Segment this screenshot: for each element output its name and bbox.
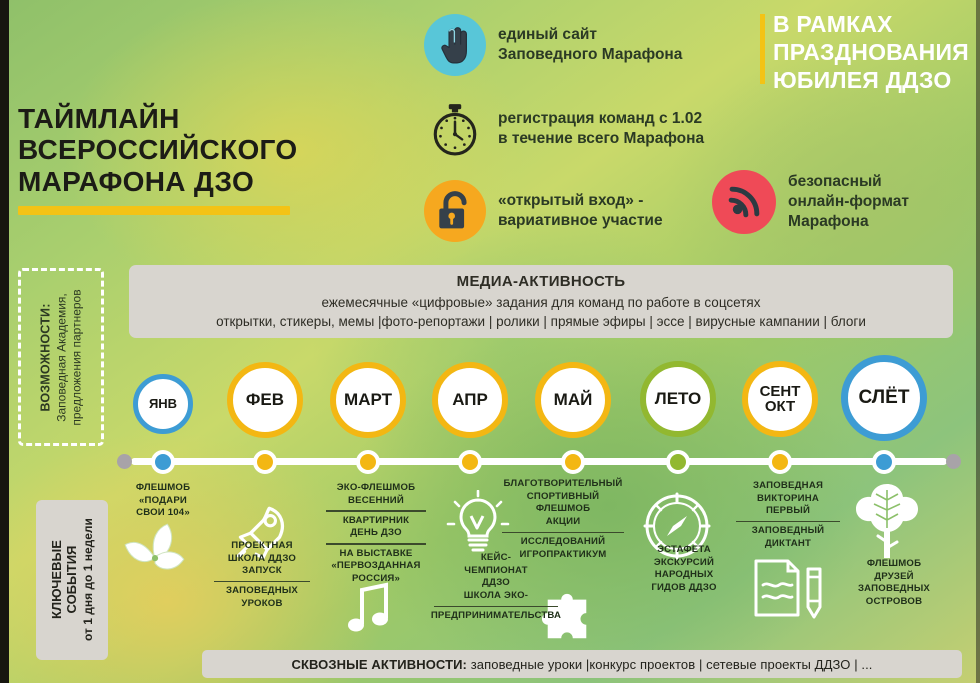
anniversary-banner: В РАМКАХ ПРАЗДНОВАНИЯ ЮБИЛЕЯ ДДЗО <box>760 10 972 94</box>
event-line: ФЛЕШМОБ <box>110 482 216 495</box>
timeline-month-label: МАРТ <box>344 391 392 408</box>
event-line: ЗАПОВЕДНЫЙ <box>728 525 848 538</box>
bottom-text: СКВОЗНЫЕ АКТИВНОСТИ: заповедные уроки |к… <box>291 657 872 672</box>
feature-registration: регистрация команд с 1.02 в течение всег… <box>424 98 704 160</box>
timeline-dot[interactable] <box>253 450 277 474</box>
title-line-2: ВСЕРОССИЙСКОГО <box>18 134 348 165</box>
event-line: ФЛЕШМОБ <box>836 558 952 571</box>
timeline-month-label: ФЕВ <box>246 391 284 408</box>
timeline-month-label: ЛЕТО <box>655 390 701 407</box>
ragged-edge <box>350 0 390 92</box>
stopwatch-icon <box>424 98 486 160</box>
event-line: НА ВЫСТАВКЕ <box>318 548 434 561</box>
feature-text: регистрация команд с 1.02 в течение всег… <box>498 109 704 149</box>
timeline-dot[interactable] <box>458 450 482 474</box>
banner-line-1: В РАМКАХ <box>773 10 972 38</box>
timeline-month-фев[interactable]: ФЕВ <box>227 362 303 438</box>
media-subheading: ежемесячные «цифровые» задания для коман… <box>139 295 943 310</box>
event-line: РОССИЯ» <box>318 573 434 586</box>
logo-zapovednoe-posolstvo: ЗАПОВЕДНОЕ ПОСОЛЬСТВО БЛАГОТВОРИТЕЛЬНЫЙ … <box>230 5 340 87</box>
key-events-side-label: КЛЮЧЕВЫЕ СОБЫТИЯ от 1 дня до 1 недели <box>36 500 108 660</box>
bottom-rest: заповедные уроки |конкурс проектов | сет… <box>467 657 873 672</box>
timeline-event-block: БЛАГОТВОРИТЕЛЬНЫЙСПОРТИВНЫЙФЛЕШМОБАКЦИИИ… <box>492 478 634 561</box>
event-line: «ПЕРВОЗДАННАЯ <box>318 560 434 573</box>
banner-line-2: ПРАЗДНОВАНИЯ <box>773 38 972 66</box>
cross-cutting-activities-banner: СКВОЗНЫЕ АКТИВНОСТИ: заповедные уроки |к… <box>202 650 962 678</box>
event-line: ВИКТОРИНА <box>728 493 848 506</box>
title-line-3: МАРАФОНА ДЗО <box>18 166 348 197</box>
key-events-line-3: от 1 дня до 1 недели <box>81 519 95 642</box>
event-line: ИГРОПРАКТИКУМ <box>492 549 634 562</box>
event-divider <box>434 606 558 608</box>
timeline-dot[interactable] <box>666 450 690 474</box>
timeline-month-label: МАЙ <box>554 391 593 408</box>
document-pencil-icon <box>748 555 826 626</box>
feature-line-1: «открытый вход» - <box>498 191 663 211</box>
timeline-event-block: ЭСТАФЕТАЭКСКУРСИЙНАРОДНЫХГИДОВ ДДЗО <box>630 544 738 595</box>
feature-line-1: единый сайт <box>498 25 682 45</box>
event-line: СВОИ 104» <box>110 507 216 520</box>
posolstvo-mark-icon <box>259 5 311 43</box>
event-line: ПРЕДПРИНИМАТЕЛЬСТВА <box>424 610 568 623</box>
banner-line-3: ЮБИЛЕЯ ДДЗО <box>773 66 972 94</box>
event-line: ШКОЛА ДДЗО <box>206 553 318 566</box>
feature-online-format: безопасный онлайн-формат Марафона <box>712 170 909 234</box>
bear-circle-icon <box>115 6 207 52</box>
timeline-event-block: ЭКО-ФЛЕШМОБВЕСЕННИЙКВАРТИРНИКДЕНЬ ДЗОНА … <box>318 482 434 586</box>
logo-bar: ДВИЖЕНИЕ · ДРУЗЕЙ · ЗАПОВЕДНЫХ · ОСТРОВО… <box>6 0 376 92</box>
feature-line-1: регистрация команд с 1.02 <box>498 109 704 129</box>
event-line: ИССЛЕДОВАНИЙ <box>492 536 634 549</box>
event-line: ДЕНЬ ДЗО <box>318 527 434 540</box>
event-line: АКЦИИ <box>492 516 634 529</box>
timeline-endcap-right-icon <box>946 454 961 469</box>
pinwheel-icon: ДВИЖЕНИЕ · ДРУЗЕЙ · ЗАПОВЕДНЫХ · ОСТРОВО… <box>14 7 92 85</box>
timeline-event-block: КЕЙС-ЧЕМПИОНАТДДЗОШКОЛА ЭКО-ПРЕДПРИНИМАТ… <box>424 552 568 623</box>
timeline-event-block: ФЛЕШМОБДРУЗЕЙЗАПОВЕДНЫХОСТРОВОВ <box>836 558 952 609</box>
timeline-month-label: АПР <box>452 391 488 408</box>
timeline-dot[interactable] <box>872 450 896 474</box>
open-lock-icon <box>424 180 486 242</box>
event-line: ЭСТАФЕТА <box>630 544 738 557</box>
event-line: ЗАПОВЕДНАЯ <box>728 480 848 493</box>
logo-posolstvo-word1: ЗАПОВЕДНОЕ <box>230 45 340 58</box>
feature-line-2: вариативное участие <box>498 211 663 231</box>
feature-line-3: Марафона <box>788 212 909 232</box>
timeline-dot[interactable] <box>151 450 175 474</box>
event-line: ЗАПУСК <box>206 565 318 578</box>
opportunities-line-2: Заповедная Академия, <box>55 289 69 425</box>
timeline-month-март[interactable]: МАРТ <box>330 362 406 438</box>
feature-line-2: онлайн-формат <box>788 192 909 212</box>
timeline-event-block: ЗАПОВЕДНАЯВИКТОРИНАПЕРВЫЙЗАПОВЕДНЫЙДИКТА… <box>728 480 848 551</box>
leaf-icon <box>118 520 190 591</box>
logo-dvizhenie-druzey-zapovednyh-ostrovov: ДВИЖЕНИЕ · ДРУЗЕЙ · ЗАПОВЕДНЫХ · ОСТРОВО… <box>14 7 92 85</box>
timeline-month-май[interactable]: МАЙ <box>535 362 611 438</box>
event-line: «ПОДАРИ <box>110 495 216 508</box>
event-line: ПРОЕКТНАЯ <box>206 540 318 553</box>
event-line: ЗАПОВЕДНЫХ <box>206 585 318 598</box>
event-line: ГИДОВ ДДЗО <box>630 582 738 595</box>
timeline-event-block: ФЛЕШМОБ«ПОДАРИСВОИ 104» <box>110 482 216 520</box>
key-events-line-2: СОБЫТИЯ <box>64 519 79 642</box>
event-line: ШКОЛА ЭКО- <box>424 590 568 603</box>
timeline-endcap-left-icon <box>117 454 132 469</box>
title-line-1: ТАЙМЛАЙН <box>18 103 348 134</box>
timeline-month-label: СЛЁТ <box>859 388 910 407</box>
timeline-dot[interactable] <box>561 450 585 474</box>
timeline-month-label: СЕНТОКТ <box>760 384 801 415</box>
music-note-icon <box>344 580 394 643</box>
feature-text: безопасный онлайн-формат Марафона <box>788 172 909 232</box>
timeline-dot[interactable] <box>356 450 380 474</box>
event-divider <box>502 532 624 534</box>
timeline-month-апр[interactable]: АПР <box>432 362 508 438</box>
bottom-bold: СКВОЗНЫЕ АКТИВНОСТИ: <box>291 657 467 672</box>
event-line: УРОКОВ <box>206 598 318 611</box>
event-line: СПОРТИВНЫЙ <box>492 491 634 504</box>
event-divider <box>326 543 426 545</box>
hand-pointer-icon <box>424 14 486 76</box>
event-line: БЛАГОТВОРИТЕЛЬНЫЙ <box>492 478 634 491</box>
event-line: ЗАПОВЕДНЫХ <box>836 583 952 596</box>
feature-text: «открытый вход» - вариативное участие <box>498 191 663 231</box>
event-line: ЧЕМПИОНАТ <box>424 565 568 578</box>
event-line: КВАРТИРНИК <box>318 515 434 528</box>
feature-single-site: единый сайт Заповедного Марафона <box>424 14 682 76</box>
key-events-line-1: КЛЮЧЕВЫЕ <box>49 519 64 642</box>
event-line: ПЕРВЫЙ <box>728 505 848 518</box>
event-line: ЭКСКУРСИЙ <box>630 557 738 570</box>
event-line: ОСТРОВОВ <box>836 596 952 609</box>
rss-wifi-icon <box>712 170 776 234</box>
tree-icon <box>848 480 926 567</box>
media-list: открытки, стикеры, мемы |фото-репортажи … <box>139 314 943 329</box>
event-line: ДРУЗЕЙ <box>836 571 952 584</box>
timeline-month-слёт[interactable]: СЛЁТ <box>841 355 927 441</box>
logo-posolstvo-tiny: БЛАГОТВОРИТЕЛЬНЫЙ ЭКОЛОГИЧЕСКИЙ ФОНД <box>230 73 340 85</box>
feature-line-2: Заповедного Марафона <box>498 45 682 65</box>
logo-zapovedniki-sub: ЭКОЦЕНТР <box>96 72 226 81</box>
opportunities-line-1: ВОЗМОЖНОСТИ: <box>39 289 53 425</box>
event-divider <box>736 521 839 523</box>
event-line: ДДЗО <box>424 577 568 590</box>
event-line: НАРОДНЫХ <box>630 569 738 582</box>
feature-open-entry: «открытый вход» - вариативное участие <box>424 180 663 242</box>
feature-text: единый сайт Заповедного Марафона <box>498 25 682 65</box>
opportunities-side-label: ВОЗМОЖНОСТИ: Заповедная Академия, предло… <box>18 268 104 446</box>
page-title: ТАЙМЛАЙН ВСЕРОССИЙСКОГО МАРАФОНА ДЗО <box>18 103 348 215</box>
event-line: ВЕСЕННИЙ <box>318 495 434 508</box>
logo-zapovedniki-word: ЗАПОВЕДНИКИ <box>96 52 226 69</box>
logo-zapovedniki-ekocentr: ЗАПОВЕДНИКИ ЭКОЦЕНТР <box>96 6 226 86</box>
event-line: ФЛЕШМОБ <box>492 503 634 516</box>
media-heading: МЕДИА-АКТИВНОСТЬ <box>139 273 943 290</box>
infographic-page: ДВИЖЕНИЕ · ДРУЗЕЙ · ЗАПОВЕДНЫХ · ОСТРОВО… <box>0 0 980 683</box>
timeline-month-label: ЯНВ <box>149 397 177 410</box>
timeline-month-янв[interactable]: ЯНВ <box>133 374 193 434</box>
timeline-dot[interactable] <box>768 450 792 474</box>
timeline-event-block: ПРОЕКТНАЯШКОЛА ДДЗОЗАПУСКЗАПОВЕДНЫХУРОКО… <box>206 540 318 611</box>
logo-posolstvo-word2: ПОСОЛЬСТВО <box>230 58 340 71</box>
timeline-month-sent-okt[interactable]: СЕНТОКТ <box>742 361 818 437</box>
feature-line-1: безопасный <box>788 172 909 192</box>
event-line: ЭКО-ФЛЕШМОБ <box>318 482 434 495</box>
event-divider <box>214 581 310 583</box>
title-underline <box>18 206 290 215</box>
event-divider <box>326 510 426 512</box>
event-line: ДИКТАНТ <box>728 538 848 551</box>
feature-line-2: в течение всего Марафона <box>498 129 704 149</box>
media-activity-panel: МЕДИА-АКТИВНОСТЬ ежемесячные «цифровые» … <box>129 265 953 338</box>
opportunities-line-3: предложения партнеров <box>70 289 84 425</box>
timeline-month-лето[interactable]: ЛЕТО <box>640 361 716 437</box>
